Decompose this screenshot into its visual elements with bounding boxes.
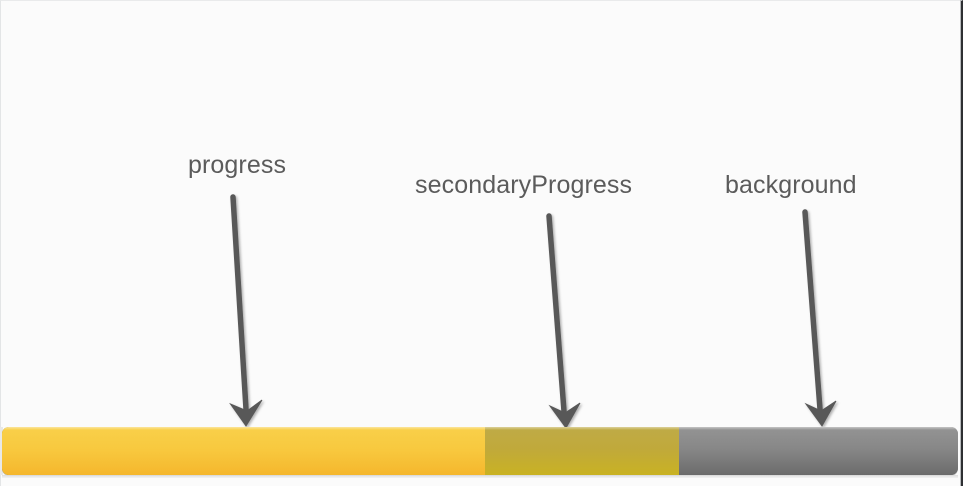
right-gutter (963, 0, 976, 486)
label-secondary-progress: secondaryProgress (415, 173, 632, 198)
progress-bar-progress-segment (2, 427, 485, 475)
label-background: background (725, 173, 857, 198)
progress-bar-highlight (2, 427, 958, 430)
screenshot-root: progress secondaryProgress background (0, 0, 976, 486)
panel-right-edge (960, 0, 961, 486)
progress-bar[interactable] (2, 427, 958, 475)
content-panel (0, 0, 963, 486)
progress-bar-underline (2, 475, 958, 478)
label-progress: progress (188, 153, 286, 178)
